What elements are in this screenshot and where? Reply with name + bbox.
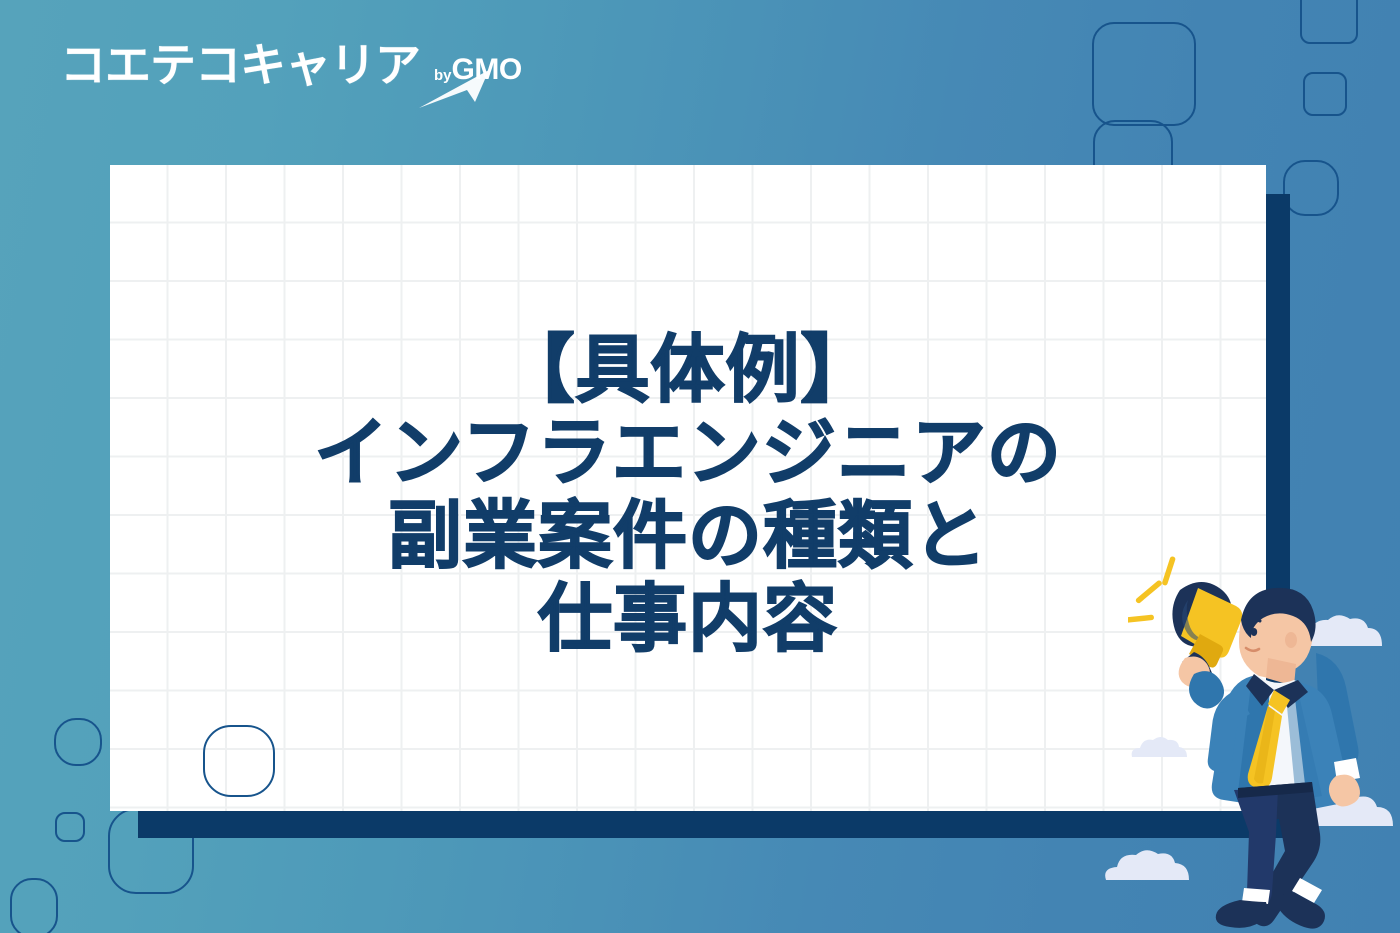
thumbnail-canvas: コエテコキャリア by GMO 【具体例】 インフラエンジニアの 副業案件の種類… [0, 0, 1400, 933]
businessman-with-megaphone-illustration [1128, 548, 1400, 933]
logo-gmo-text: GMO [452, 53, 522, 87]
rounded-square-decoration [1092, 22, 1196, 126]
sound-rays-icon [1128, 556, 1176, 623]
content-card [110, 165, 1266, 811]
rounded-square-decoration [1300, 0, 1358, 44]
rounded-square-decoration [203, 725, 275, 797]
site-logo[interactable]: コエテコキャリア by GMO [60, 42, 522, 88]
logo-brand-text: コエテコキャリア [60, 42, 420, 88]
rounded-square-decoration [55, 812, 85, 842]
logo-by-text: by [434, 67, 452, 84]
rounded-square-decoration [54, 718, 102, 766]
rounded-square-decoration [1303, 72, 1347, 116]
rounded-square-decoration [1283, 160, 1339, 216]
grid-pattern [110, 165, 1266, 811]
rounded-square-decoration [10, 878, 58, 933]
